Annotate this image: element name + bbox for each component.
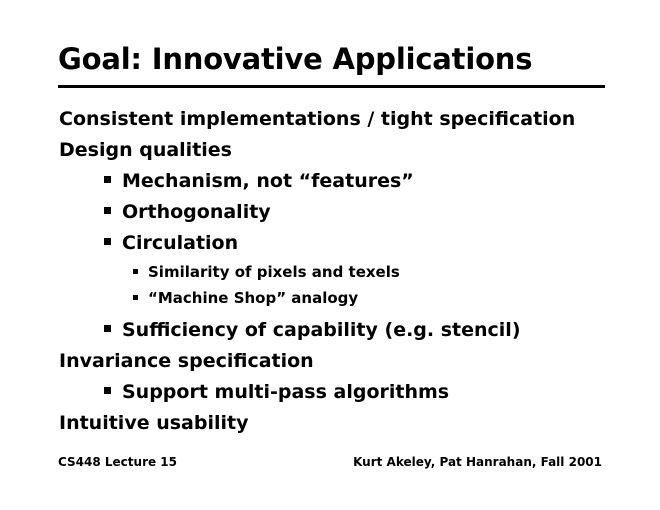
list-item: Design qualities xyxy=(0,135,660,166)
list-item: “Machine Shop” analogy xyxy=(0,285,660,311)
bullet-text: Mechanism, not “features” xyxy=(122,166,414,197)
bullet-text: Orthogonality xyxy=(122,197,271,228)
list-item: Circulation xyxy=(0,228,660,259)
list-item: Support multi-pass algorithms xyxy=(0,377,660,408)
list-item: Consistent implementations / tight speci… xyxy=(0,104,660,135)
bullet-text: Sufficiency of capability (e.g. stencil) xyxy=(122,315,521,346)
list-item: Intuitive usability xyxy=(0,408,660,439)
slide-body: Consistent implementations / tight speci… xyxy=(0,104,660,439)
footer-course-label: CS448 Lecture 15 xyxy=(58,455,177,469)
square-bullet-icon xyxy=(104,176,111,183)
list-item: Orthogonality xyxy=(0,197,660,228)
square-bullet-icon xyxy=(104,238,111,245)
title-underline-rule xyxy=(58,85,605,88)
square-bullet-icon xyxy=(133,269,138,274)
list-item: Invariance specification xyxy=(0,346,660,377)
bullet-text: Intuitive usability xyxy=(59,408,248,439)
slide-footer: CS448 Lecture 15 Kurt Akeley, Pat Hanrah… xyxy=(58,455,602,469)
slide: Goal: Innovative Applications Consistent… xyxy=(0,0,660,510)
bullet-text: Circulation xyxy=(122,228,238,259)
list-item: Sufficiency of capability (e.g. stencil) xyxy=(0,315,660,346)
list-item: Mechanism, not “features” xyxy=(0,166,660,197)
bullet-text: Similarity of pixels and texels xyxy=(148,259,400,285)
bullet-text: “Machine Shop” analogy xyxy=(148,285,358,311)
page-title: Goal: Innovative Applications xyxy=(58,42,532,76)
square-bullet-icon xyxy=(104,387,111,394)
bullet-text: Consistent implementations / tight speci… xyxy=(59,104,575,135)
square-bullet-icon xyxy=(104,325,111,332)
square-bullet-icon xyxy=(133,295,138,300)
footer-authors-label: Kurt Akeley, Pat Hanrahan, Fall 2001 xyxy=(353,455,602,469)
bullet-text: Support multi-pass algorithms xyxy=(122,377,449,408)
list-item: Similarity of pixels and texels xyxy=(0,259,660,285)
bullet-text: Invariance specification xyxy=(59,346,314,377)
bullet-text: Design qualities xyxy=(59,135,232,166)
square-bullet-icon xyxy=(104,207,111,214)
